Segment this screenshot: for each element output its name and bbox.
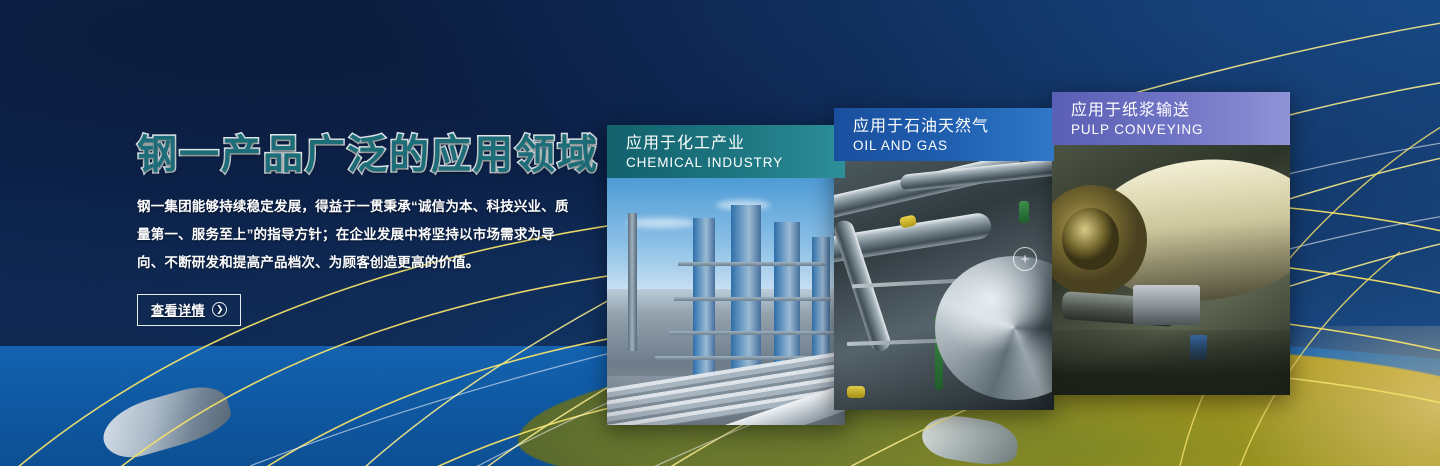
card-title-en: CHEMICAL INDUSTRY (626, 155, 845, 172)
card-title-cn: 应用于石油天然气 (853, 115, 1054, 138)
globe-icecap-right (919, 411, 1021, 466)
card-image-chemical (607, 178, 845, 425)
card-image-pulp (1052, 145, 1290, 395)
hero-description: 钢一集团能够持续稳定发展，得益于一贯秉承“诚信为本、科技兴业、质量第一、服务至上… (137, 193, 579, 277)
application-card-pulp[interactable]: 应用于纸浆输送 PULP CONVEYING (1052, 92, 1290, 395)
application-card-chemical[interactable]: 应用于化工产业 CHEMICAL INDUSTRY (607, 125, 845, 425)
roller-hub-core (1062, 208, 1119, 271)
mount-bracket (1133, 285, 1200, 325)
page-title: 钢一产品广泛的应用领域 (137, 134, 587, 177)
card-caption-oilgas: 应用于石油天然气 OIL AND GAS (834, 108, 1054, 161)
floor-layer (1052, 330, 1290, 395)
view-details-label: 查看详情 (151, 300, 205, 319)
chevron-right-circle-icon: ❯ (212, 302, 227, 317)
card-title-en: OIL AND GAS (853, 138, 1054, 155)
card-caption-chemical: 应用于化工产业 CHEMICAL INDUSTRY (607, 125, 845, 178)
application-card-oilgas[interactable]: 应用于石油天然气 OIL AND GAS + (834, 108, 1054, 410)
view-details-button[interactable]: 查看详情 ❯ (137, 294, 241, 326)
plus-circle-icon[interactable]: + (1013, 247, 1037, 271)
hero-banner: 钢一产品广泛的应用领域 钢一集团能够持续稳定发展，得益于一贯秉承“诚信为本、科技… (0, 0, 1440, 466)
card-image-oilgas: + (834, 161, 1054, 410)
card-title-cn: 应用于化工产业 (626, 132, 845, 155)
globe-icecap-left (96, 379, 235, 465)
sky-layer (607, 178, 845, 289)
card-title-en: PULP CONVEYING (1071, 122, 1290, 139)
hero-copy: 钢一产品广泛的应用领域 钢一集团能够持续稳定发展，得益于一贯秉承“诚信为本、科技… (137, 134, 587, 326)
card-caption-pulp: 应用于纸浆输送 PULP CONVEYING (1052, 92, 1290, 145)
card-title-cn: 应用于纸浆输送 (1071, 99, 1290, 122)
vessel-head (935, 256, 1054, 400)
